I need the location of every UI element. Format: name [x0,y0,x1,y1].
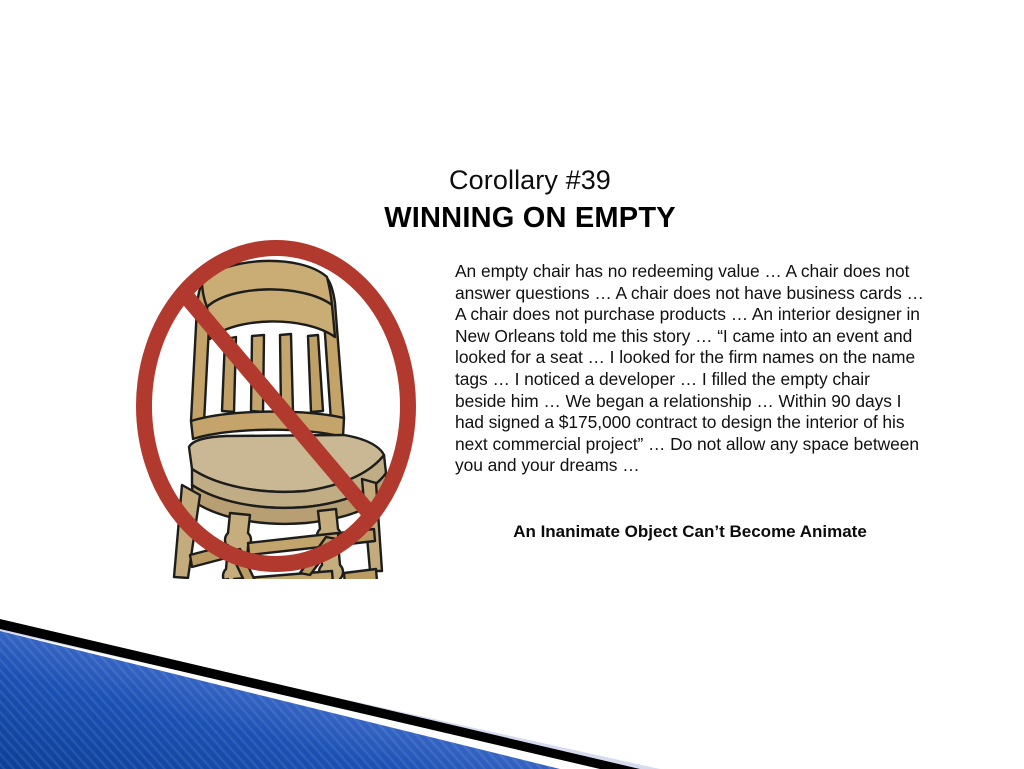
slide-canvas: Corollary #39 WINNING ON EMPTY An empty … [0,0,1024,769]
heading-group: Corollary #39 WINNING ON EMPTY [330,164,730,236]
lavender-band [0,623,660,769]
page-title: WINNING ON EMPTY [330,200,730,236]
blue-wedge [0,631,560,769]
corollary-label: Corollary #39 [330,164,730,196]
corner-band-decoration [0,609,1024,769]
no-empty-chair-illustration [130,233,422,579]
slide-content: Corollary #39 WINNING ON EMPTY An empty … [0,0,1024,620]
body-paragraph: An empty chair has no redeeming value … … [455,261,925,477]
blue-wedge-stripes [0,631,560,769]
tagline-text: An Inanimate Object Can’t Become Animate [455,521,925,543]
black-band [0,619,640,769]
